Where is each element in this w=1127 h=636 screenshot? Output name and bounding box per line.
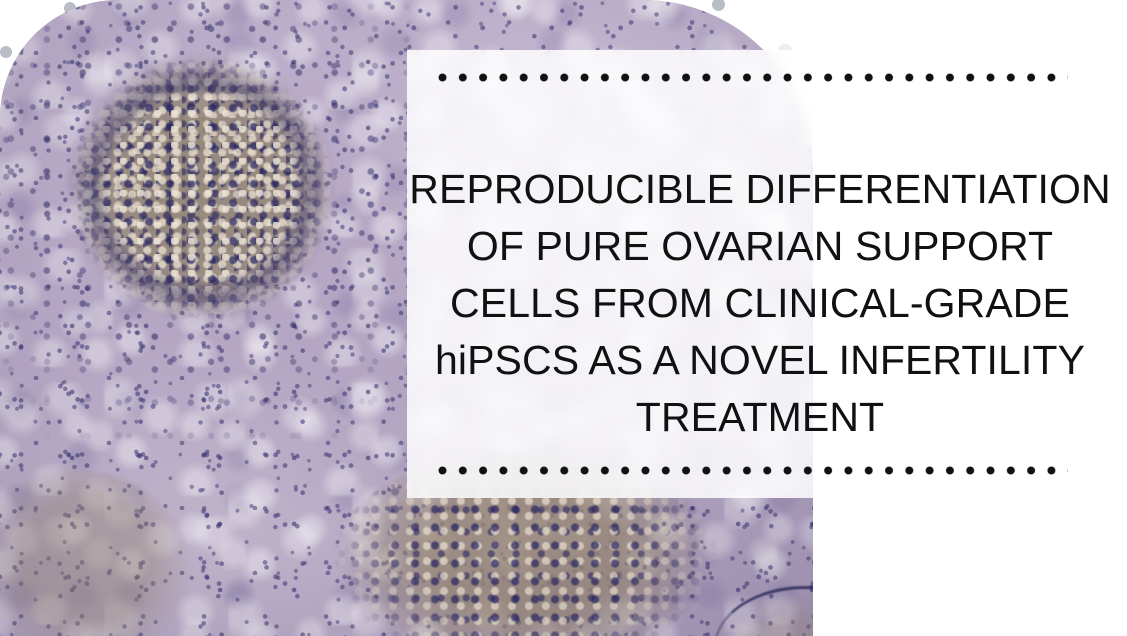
slide-title: REPRODUCIBLE DIFFERENTIATION OF PURE OVA… [398, 161, 1122, 446]
dotted-rule-bottom [438, 466, 1068, 475]
dotted-rule-top [438, 73, 1068, 82]
slide-canvas: REPRODUCIBLE DIFFERENTIATION OF PURE OVA… [0, 0, 1127, 636]
